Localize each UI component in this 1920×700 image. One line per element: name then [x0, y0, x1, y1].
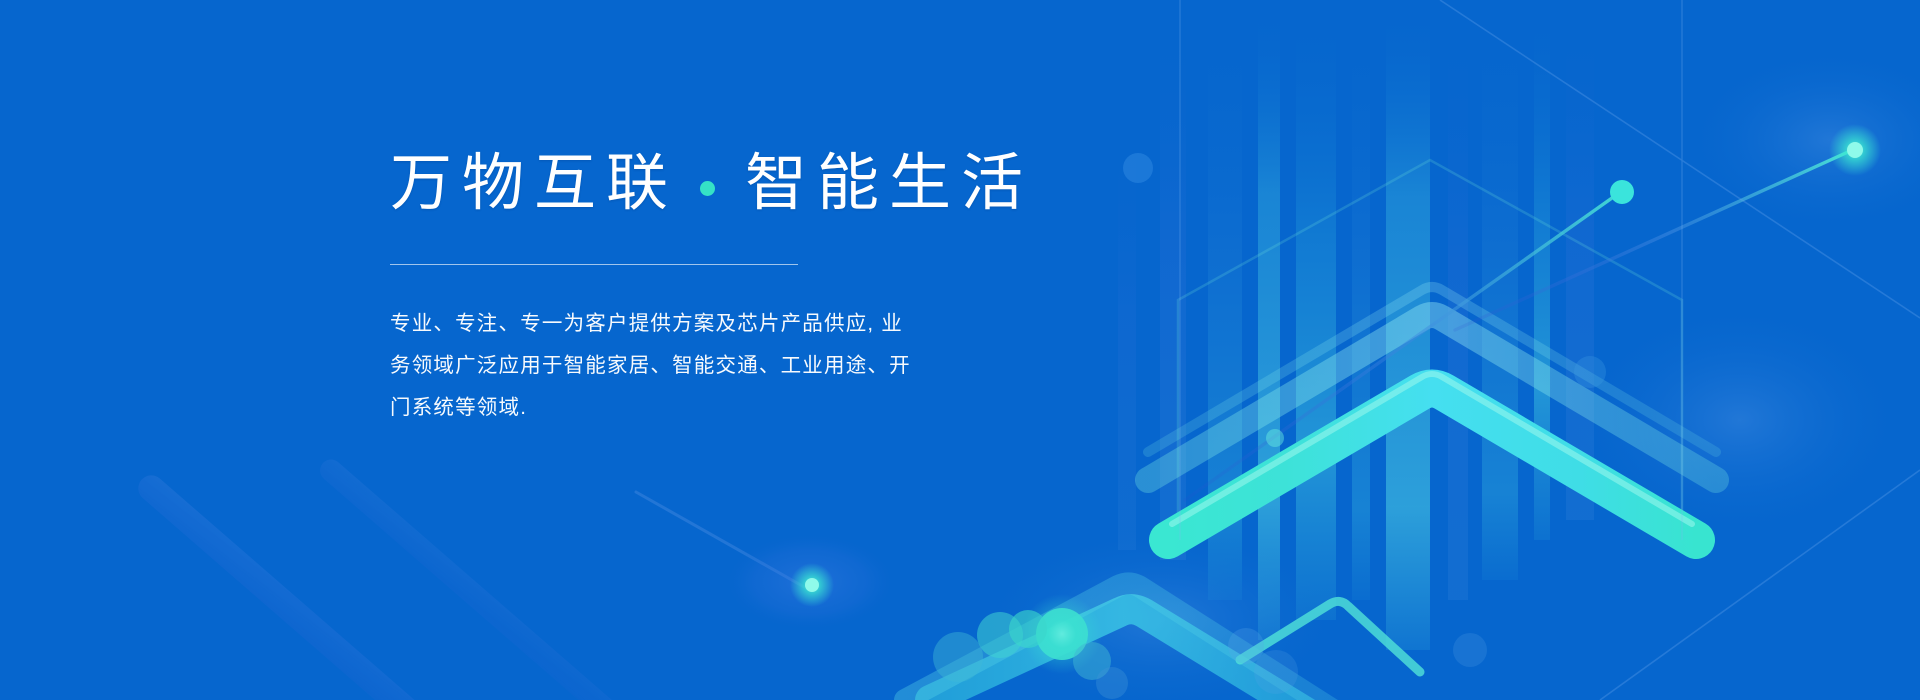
headline-right: 智能生活	[745, 150, 1033, 218]
banner-description: 专业、专注、专一为客户提供方案及芯片产品供应, 业 务领域广泛应用于智能家居、智…	[390, 303, 1010, 429]
headline-left: 万物互联	[390, 150, 678, 218]
description-line-3: 门系统等领域.	[390, 387, 1010, 429]
description-line-2: 务领域广泛应用于智能家居、智能交通、工业用途、开	[390, 345, 1010, 387]
hero-banner: 万物互联 智能生活 专业、专注、专一为客户提供方案及芯片产品供应, 业 务领域广…	[0, 0, 1920, 700]
page-title: 万物互联 智能生活	[390, 150, 1150, 218]
description-line-1: 专业、专注、专一为客户提供方案及芯片产品供应, 业	[390, 303, 1010, 345]
banner-copy-block: 万物互联 智能生活 专业、专注、专一为客户提供方案及芯片产品供应, 业 务领域广…	[390, 150, 1150, 429]
dot-separator-icon	[700, 181, 715, 196]
title-divider	[390, 264, 798, 265]
